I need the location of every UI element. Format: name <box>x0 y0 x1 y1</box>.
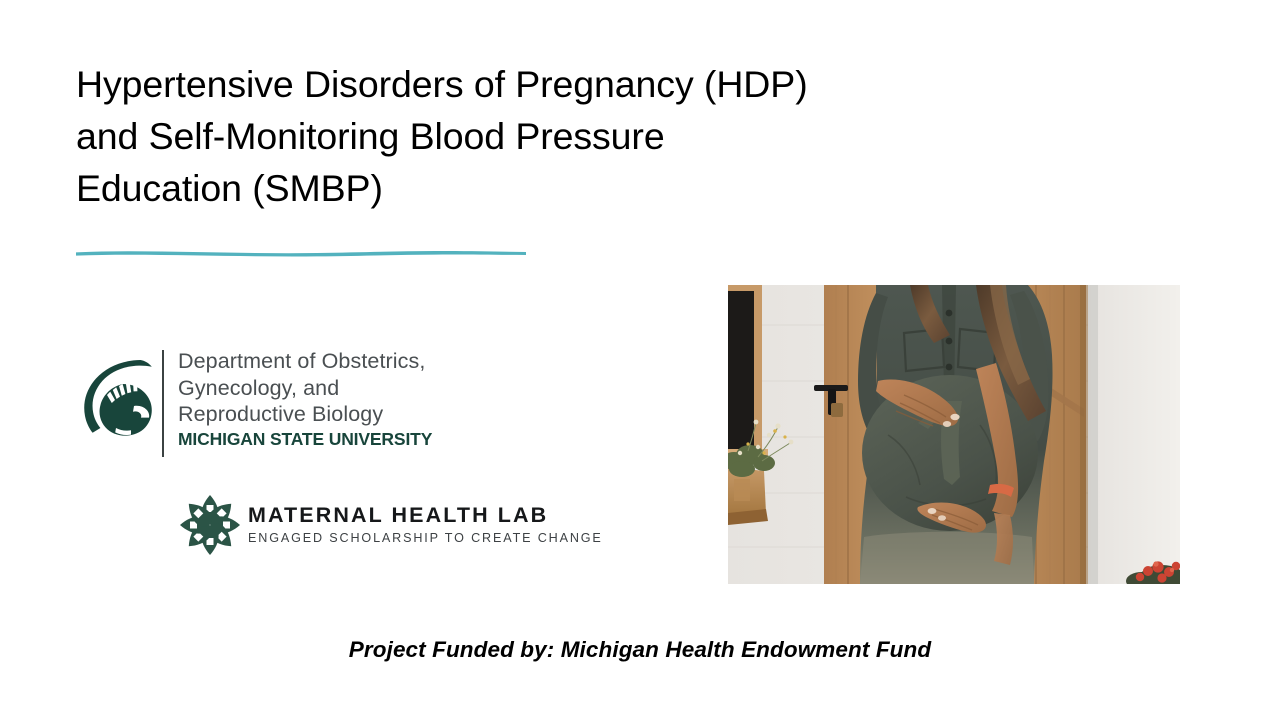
photo-illustration <box>728 285 1180 584</box>
msu-department-line-1: Department of Obstetrics, <box>178 348 468 375</box>
msu-department-line-3: Reproductive Biology <box>178 401 468 428</box>
maternal-health-lab-text: MATERNAL HEALTH LAB ENGAGED SCHOLARSHIP … <box>248 503 603 546</box>
msu-department-line-2: Gynecology, and <box>178 375 468 402</box>
accent-rule-stroke <box>75 247 527 258</box>
msu-logo-text: Department of Obstetrics, Gynecology, an… <box>178 348 468 450</box>
msu-logo-lockup: Department of Obstetrics, Gynecology, an… <box>82 350 462 460</box>
slide-title: Hypertensive Disorders of Pregnancy (HDP… <box>76 58 816 214</box>
maternal-health-lab-name: MATERNAL HEALTH LAB <box>248 503 603 527</box>
maternal-health-lab-logo-lockup: MATERNAL HEALTH LAB ENGAGED SCHOLARSHIP … <box>166 492 596 560</box>
funding-note: Project Funded by: Michigan Health Endow… <box>0 637 1280 663</box>
spartan-helmet-glyph <box>82 358 154 440</box>
eight-petal-rosette-icon <box>166 492 254 558</box>
woman-figure <box>858 285 1053 584</box>
accent-rule <box>75 245 527 256</box>
rosette-glyph <box>166 492 254 558</box>
msu-university-name: MICHIGAN STATE UNIVERSITY <box>178 429 468 450</box>
presentation-slide: Hypertensive Disorders of Pregnancy (HDP… <box>0 0 1280 720</box>
pregnant-woman-photo <box>728 285 1180 584</box>
msu-logo-divider <box>162 350 164 457</box>
maternal-health-lab-tagline: ENGAGED SCHOLARSHIP TO CREATE CHANGE <box>248 531 603 546</box>
spartan-helmet-icon <box>82 358 154 440</box>
